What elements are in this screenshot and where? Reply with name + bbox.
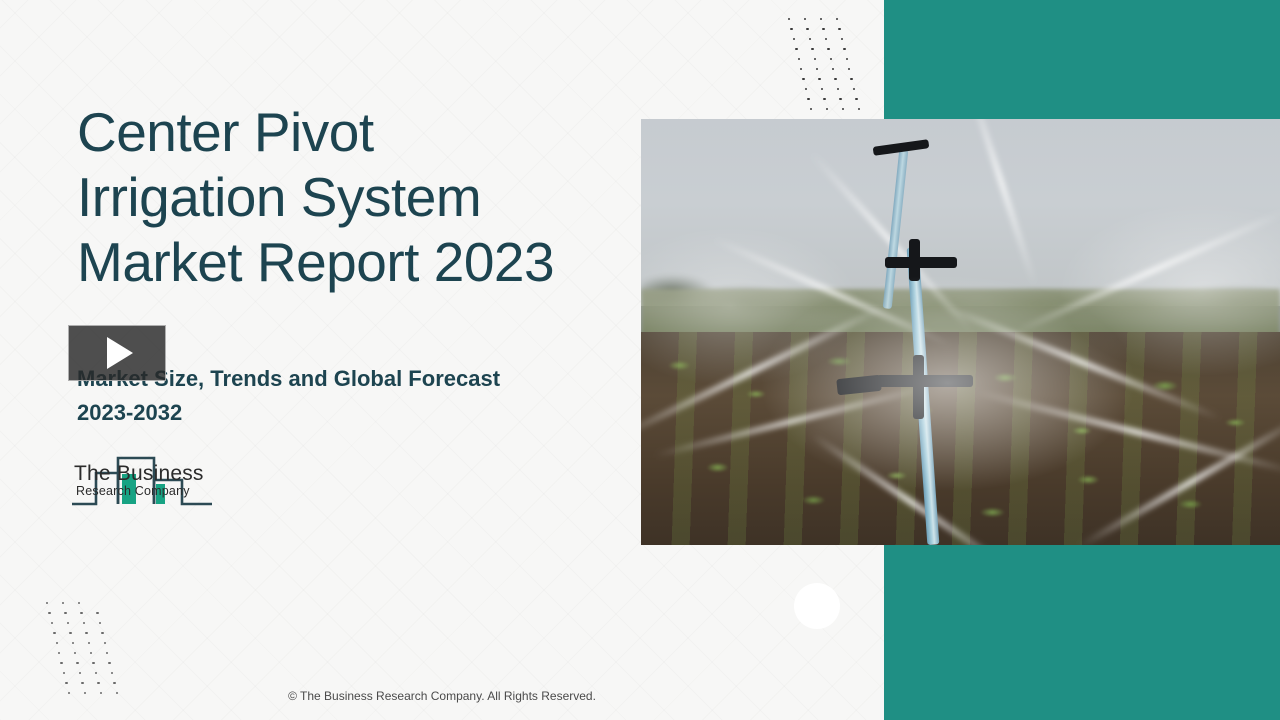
dot xyxy=(855,98,857,100)
dot xyxy=(839,98,841,100)
dot xyxy=(834,78,836,80)
dot xyxy=(806,28,808,30)
copyright-footer: © The Business Research Company. All Rig… xyxy=(0,689,884,703)
dot xyxy=(65,682,67,684)
dot xyxy=(108,662,110,664)
dot xyxy=(818,78,820,80)
dot xyxy=(60,662,62,664)
play-video-button[interactable] xyxy=(68,325,166,381)
dot xyxy=(827,48,829,50)
dot xyxy=(836,18,838,20)
dot xyxy=(807,98,809,100)
dot xyxy=(81,682,83,684)
dot xyxy=(88,642,90,644)
dot xyxy=(805,88,807,90)
dot xyxy=(92,662,94,664)
dot xyxy=(69,632,71,634)
dot xyxy=(58,652,60,654)
play-icon xyxy=(107,337,133,369)
dot xyxy=(97,682,99,684)
dot xyxy=(823,98,825,100)
dot xyxy=(101,632,103,634)
white-circle-decoration xyxy=(794,583,840,629)
dot xyxy=(816,68,818,70)
dot xyxy=(837,88,839,90)
dot xyxy=(104,642,106,644)
dot-grid-bottom-left-decoration xyxy=(46,602,116,694)
dot xyxy=(793,38,795,40)
dot xyxy=(800,68,802,70)
dot xyxy=(63,672,65,674)
dot xyxy=(810,108,812,110)
dot xyxy=(820,18,822,20)
dot xyxy=(848,68,850,70)
dot xyxy=(53,632,55,634)
dot xyxy=(64,612,66,614)
dot xyxy=(788,18,790,20)
dot xyxy=(111,672,113,674)
dot xyxy=(850,78,852,80)
dot xyxy=(95,672,97,674)
hero-photo-irrigation xyxy=(641,119,1280,545)
dot xyxy=(826,108,828,110)
dot xyxy=(90,652,92,654)
photo-sprinkler-head xyxy=(909,239,920,281)
dot xyxy=(843,48,845,50)
dot xyxy=(113,682,115,684)
dot xyxy=(809,38,811,40)
dot xyxy=(62,602,64,604)
dot xyxy=(811,48,813,50)
photo-sprinkler-head xyxy=(885,257,957,268)
dot xyxy=(106,652,108,654)
dot xyxy=(853,88,855,90)
dot xyxy=(832,68,834,70)
dot xyxy=(858,108,860,110)
dot xyxy=(96,612,98,614)
dot xyxy=(838,28,840,30)
page-title: Center Pivot Irrigation System Market Re… xyxy=(77,100,577,295)
dot xyxy=(798,58,800,60)
logo-brand-primary: The Business xyxy=(74,462,204,486)
photo-sprinkler-arm xyxy=(877,375,973,387)
presentation-slide: Center Pivot Irrigation System Market Re… xyxy=(0,0,1280,720)
dot xyxy=(841,38,843,40)
dot xyxy=(46,602,48,604)
dot xyxy=(795,48,797,50)
dot xyxy=(78,602,80,604)
dot xyxy=(72,642,74,644)
dot xyxy=(74,652,76,654)
dot xyxy=(846,58,848,60)
dot xyxy=(79,672,81,674)
dot xyxy=(80,612,82,614)
dot xyxy=(804,18,806,20)
dot xyxy=(814,58,816,60)
dot xyxy=(822,28,824,30)
dot xyxy=(830,58,832,60)
dot xyxy=(99,622,101,624)
dot xyxy=(83,622,85,624)
dot xyxy=(842,108,844,110)
dot xyxy=(821,88,823,90)
dot xyxy=(76,662,78,664)
dot xyxy=(790,28,792,30)
dot xyxy=(48,612,50,614)
dot-grid-top-right-decoration xyxy=(788,18,858,110)
logo-brand-secondary: Research Company xyxy=(76,484,190,498)
dot xyxy=(67,622,69,624)
company-logo: The Business Research Company xyxy=(72,452,284,510)
dot xyxy=(802,78,804,80)
photo-sprinkler-arm xyxy=(913,355,924,419)
dot xyxy=(51,622,53,624)
dot xyxy=(85,632,87,634)
dot xyxy=(825,38,827,40)
dot xyxy=(56,642,58,644)
